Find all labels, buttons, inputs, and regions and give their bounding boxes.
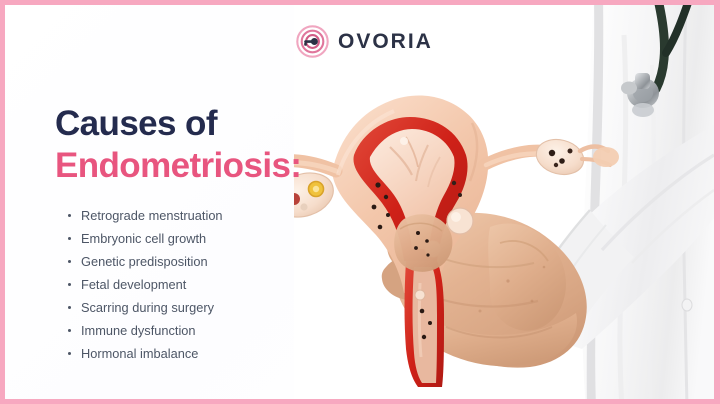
cause-item: Genetic predisposition [67,250,223,273]
title-line-causes-of: Causes of [55,103,385,145]
cause-item: Immune dysfunction [67,319,223,342]
bullet-dot-icon [68,329,71,332]
cause-item: Hormonal imbalance [67,342,223,365]
bullet-dot-icon [68,306,71,309]
brand-logo[interactable]: OVORIA [296,25,433,58]
cause-item: Retrograde menstruation [67,204,223,227]
cause-item-label: Immune dysfunction [81,323,196,338]
poster-canvas: OVORIA Causes of Endometriosis: Retrogra… [5,5,714,399]
cause-item: Fetal development [67,273,223,296]
causes-list: Retrograde menstruationEmbryonic cell gr… [67,204,223,365]
cause-item-label: Genetic predisposition [81,254,208,269]
cause-item-label: Hormonal imbalance [81,346,198,361]
finger-overlap [394,214,452,272]
hero-photo [294,5,714,399]
bullet-dot-icon [68,214,71,217]
bullet-dot-icon [68,237,71,240]
cause-item-label: Retrograde menstruation [81,208,223,223]
title-line-endometriosis: Endometriosis: [55,145,385,187]
poster-frame: OVORIA Causes of Endometriosis: Retrogra… [0,0,720,404]
ovoria-spiral-icon [296,25,329,58]
page-title: Causes of Endometriosis: [55,103,385,187]
cause-item: Scarring during surgery [67,296,223,319]
cause-item-label: Scarring during surgery [81,300,214,315]
brand-wordmark: OVORIA [338,31,433,52]
bullet-dot-icon [68,352,71,355]
cause-item: Embryonic cell growth [67,227,223,250]
cause-item-label: Embryonic cell growth [81,231,206,246]
cause-item-label: Fetal development [81,277,186,292]
bullet-dot-icon [68,260,71,263]
bullet-dot-icon [68,283,71,286]
